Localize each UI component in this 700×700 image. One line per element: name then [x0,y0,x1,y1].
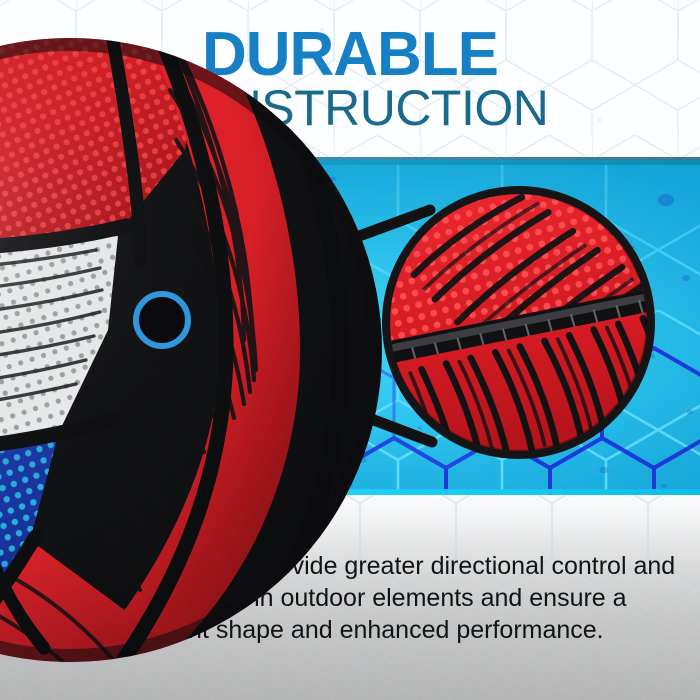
callout-dot [133,291,191,349]
headline-secondary: CONSTRUCTION [152,83,549,133]
caption-band: Precision stitched to provide greater di… [0,495,700,700]
headline-group: DURABLE CONSTRUCTION [0,0,700,160]
magnifier-circle [382,186,655,459]
infographic-canvas: DURABLE CONSTRUCTION [0,0,700,700]
header-band: DURABLE CONSTRUCTION [0,0,700,160]
caption-text-wrap: Precision stitched to provide greater di… [0,495,700,700]
magnifier-stitch-closeup [382,186,655,459]
cyan-band-top-edge [0,160,700,165]
caption-text: Precision stitched to provide greater di… [0,550,700,646]
headline-primary: DURABLE [202,25,498,85]
